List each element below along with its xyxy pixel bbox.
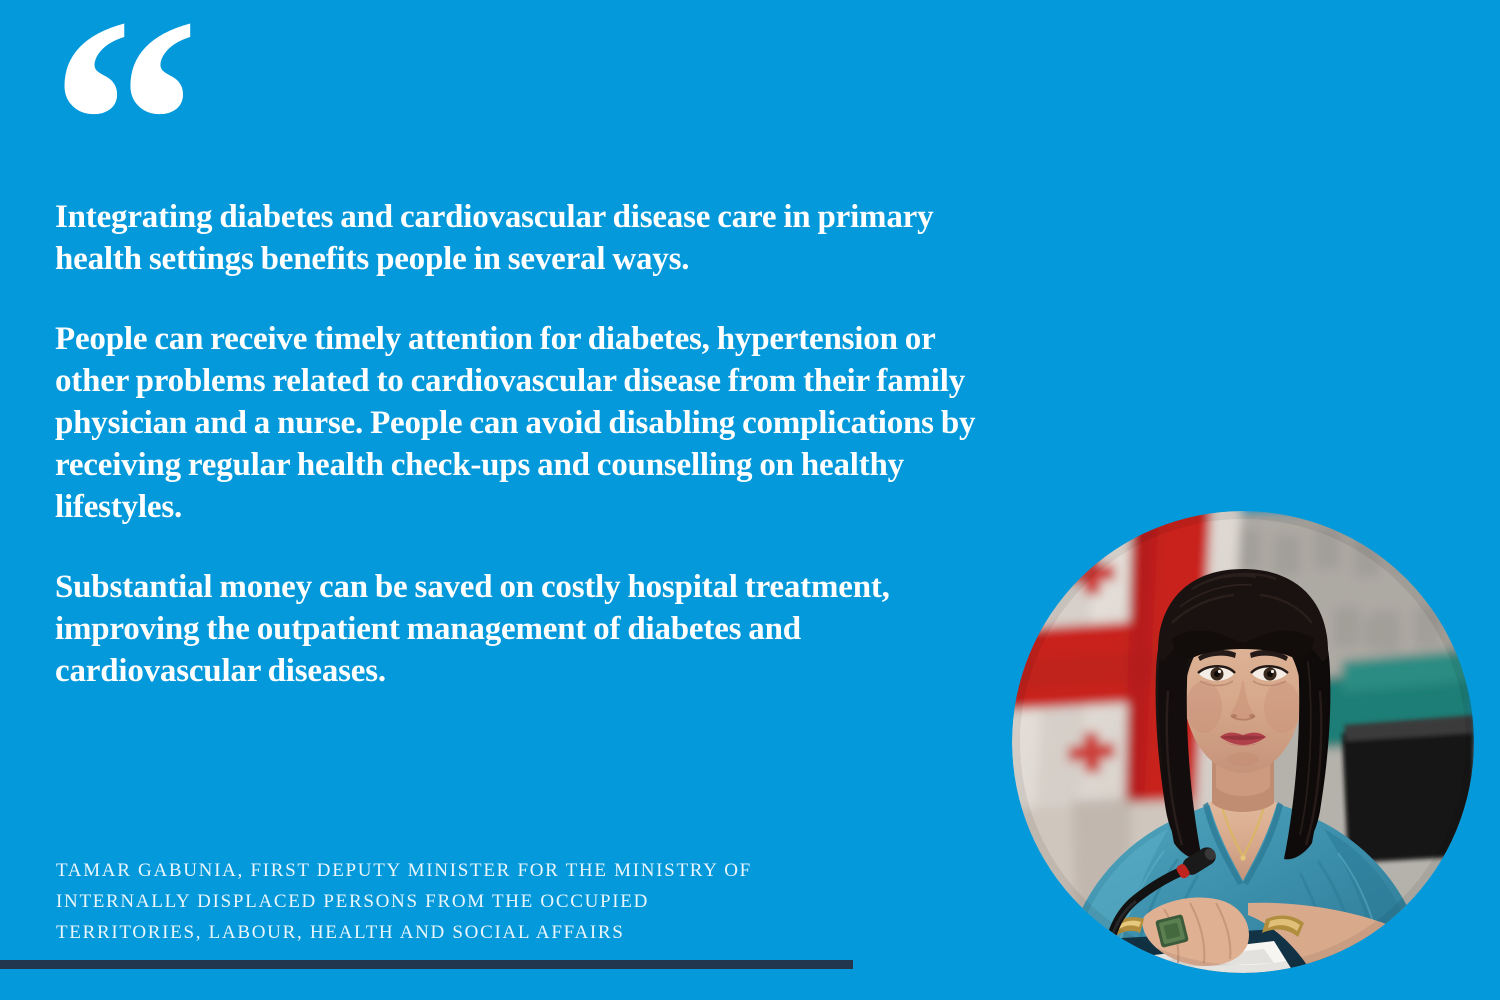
attribution: Tamar Gabunia, First Deputy Minister for… [56,855,916,948]
bottom-divider [0,960,853,969]
quote-card: “ Integrating diabetes and cardiovascula… [0,0,1500,1000]
quote-paragraph: People can receive timely attention for … [55,318,1010,528]
attribution-line: Tamar Gabunia, First Deputy Minister for… [56,855,916,886]
portrait-chair [1342,715,1474,863]
quotation-mark-icon: “ [50,0,250,182]
quote-paragraph: Substantial money can be saved on costly… [55,566,1010,692]
portrait-illustration [1012,511,1474,973]
attribution-line: Territories, Labour, Health and Social A… [56,917,916,948]
speaker-portrait [1012,511,1474,973]
quote-text-block: Integrating diabetes and cardiovascular … [55,196,1010,692]
attribution-line: Internally Displaced Persons from the Oc… [56,886,916,917]
quote-paragraph: Integrating diabetes and cardiovascular … [55,196,1010,280]
